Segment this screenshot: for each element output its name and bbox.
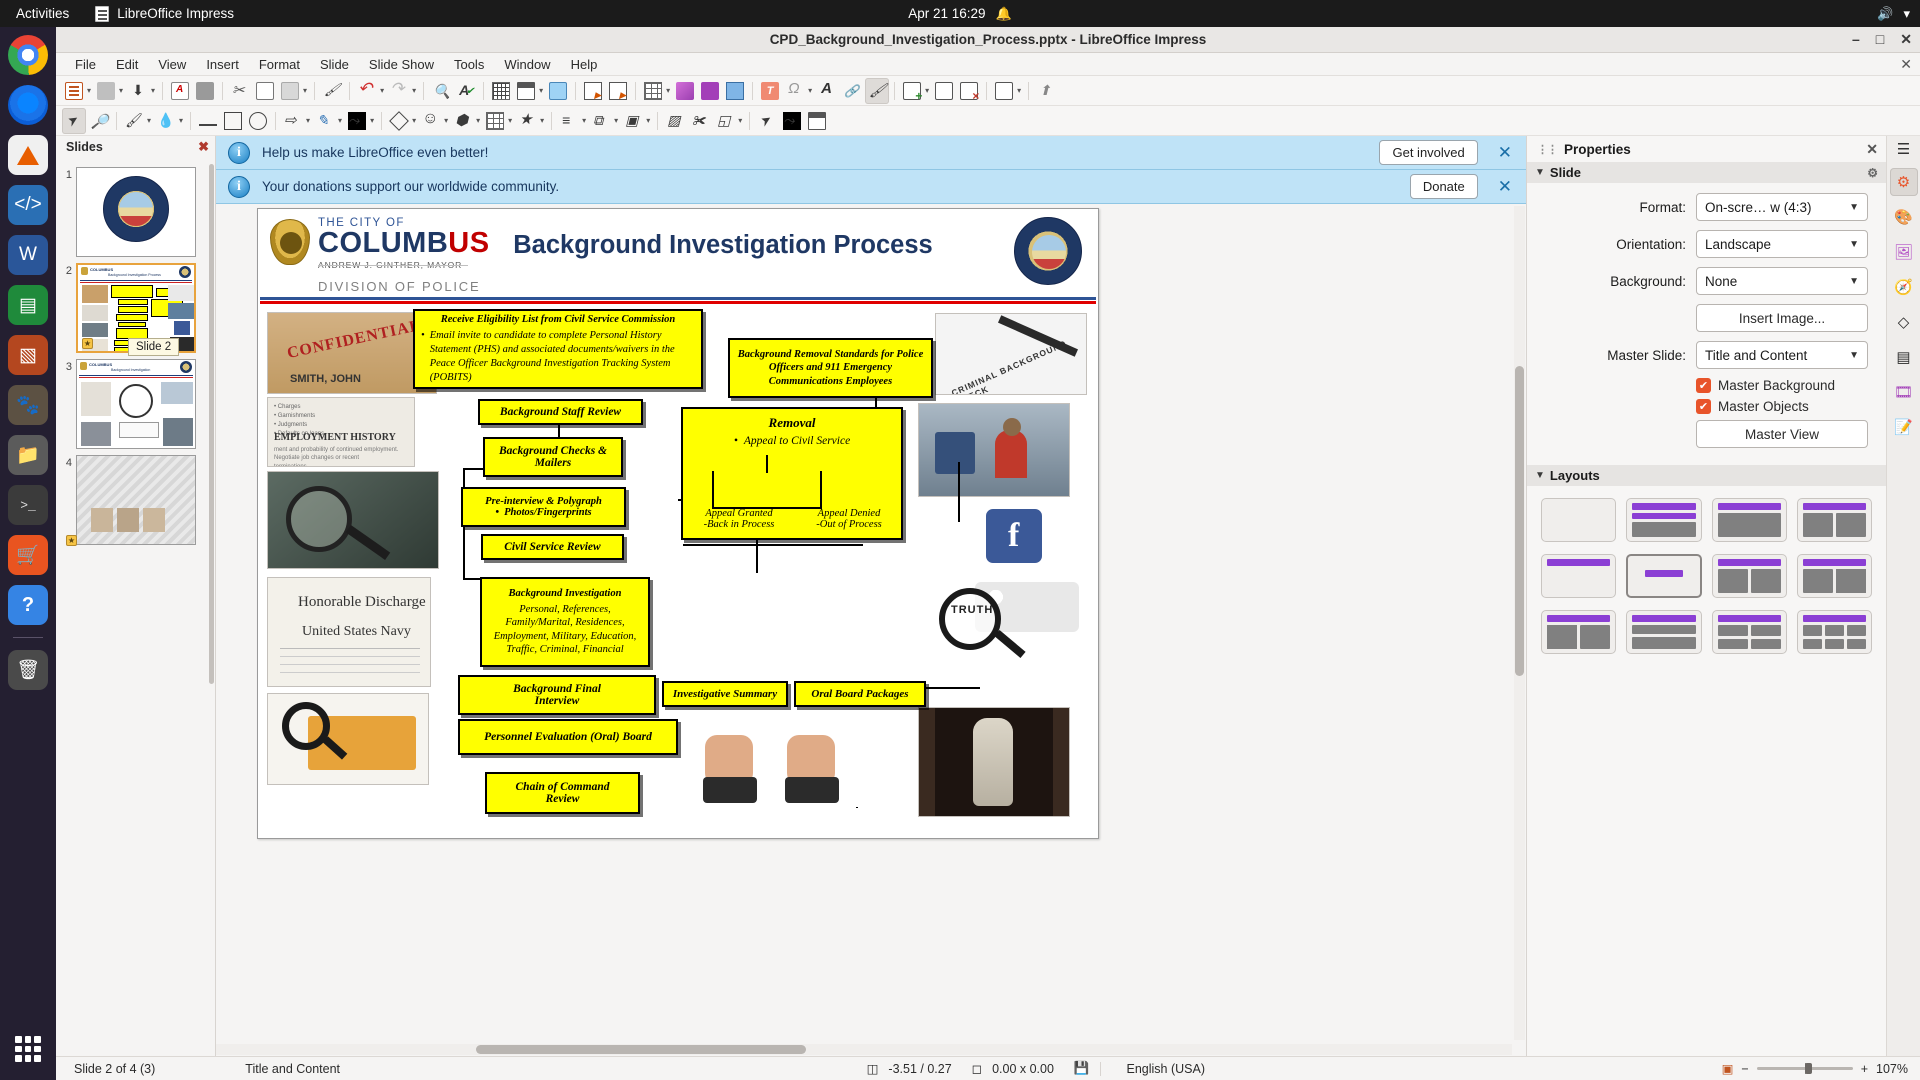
display-grid-button[interactable]	[489, 78, 513, 104]
city-big-label: COLUMBUS	[318, 229, 490, 258]
start-from-first-slide-button[interactable]	[581, 78, 605, 104]
shadow-tool[interactable]	[663, 108, 687, 134]
master-slide-label: Master Slide:	[1607, 348, 1686, 363]
layouts-section-header[interactable]: ▼ Layouts	[1527, 465, 1886, 486]
slides-list[interactable]: 1 2 COLUMBUS Background Investigation Pr…	[56, 158, 215, 1056]
slides-panel-scrollbar[interactable]	[209, 164, 214, 684]
checkbox-checked-icon: ✔	[1696, 378, 1711, 393]
window-maximize-button[interactable]: □	[1876, 31, 1884, 48]
insert-table-button[interactable]	[641, 78, 665, 104]
slide-thumbnail-3[interactable]: 3 COLUMBUS Background Investigation	[56, 356, 215, 452]
fit-slide-icon[interactable]: ▣	[1722, 1061, 1734, 1076]
connectors-tool[interactable]	[345, 108, 369, 134]
zoom-slider[interactable]	[1757, 1067, 1853, 1070]
box-pre-interview-polygraph[interactable]: Pre-interview & Polygraph • Photos/Finge…	[461, 487, 626, 527]
close-slides-panel-icon[interactable]: ✖	[198, 139, 209, 155]
preinterview-bullet-marker: •	[495, 507, 499, 518]
layout-centered-text[interactable]	[1626, 554, 1701, 598]
human-resources-bureau-seal-icon	[1014, 217, 1082, 285]
sidebar-menu-icon[interactable]: ☰	[1897, 140, 1910, 158]
box-removal[interactable]: Removal • Appeal to Civil Service Appeal…	[681, 407, 903, 540]
info-icon: i	[228, 142, 250, 164]
slide-layout-button[interactable]	[992, 78, 1016, 104]
box-background-checks-mailers[interactable]: Background Checks & Mailers	[483, 437, 623, 477]
sidebar-shapes-icon[interactable]: ◇	[1890, 308, 1918, 336]
header-red-rule	[260, 301, 1096, 304]
fill-color-tool[interactable]: 💧	[154, 108, 178, 134]
preinterview-bullet: Photos/Fingerprints	[504, 507, 592, 518]
layout-title-content[interactable]	[1626, 498, 1701, 542]
slide-orientation-value: Landscape	[1705, 237, 1849, 252]
redo-button[interactable]	[387, 78, 411, 104]
distribute-dropdown[interactable]: ▾	[646, 116, 652, 125]
distribute-tool[interactable]	[621, 108, 645, 134]
dock-item-libreoffice-impress[interactable]: ▧	[8, 335, 48, 375]
slide-background-dropdown[interactable]: None ▼	[1696, 267, 1868, 295]
align-objects-tool[interactable]	[557, 108, 581, 134]
zoom-slider-knob[interactable]	[1805, 1063, 1812, 1074]
notification-message-1: Help us make LibreOffice even better!	[262, 145, 1367, 160]
master-slide-button[interactable]	[514, 78, 538, 104]
slide-format-dropdown[interactable]: On-scre… w (4:3) ▼	[1696, 193, 1868, 221]
clock-area[interactable]: Apr 21 16:29 🔔	[908, 6, 1012, 21]
workspace: Slides ✖ 1 2 COLUMB	[56, 136, 1920, 1056]
sidebar-character-styles-icon[interactable]: 🎨	[1890, 203, 1918, 231]
glue-points-tool[interactable]	[780, 108, 804, 134]
flowchart-tool[interactable]	[483, 108, 507, 134]
personnel-eval-text: Personnel Evaluation (Oral) Board	[466, 731, 670, 743]
canvas-horizontal-scrollbar[interactable]	[216, 1044, 1512, 1055]
dock-item-ubuntu-software[interactable]: 🛒	[8, 535, 48, 575]
magnifier-money-image[interactable]	[267, 471, 439, 569]
removal-title: Removal	[689, 415, 895, 431]
filter-tool[interactable]	[713, 108, 737, 134]
active-app-label: LibreOffice Impress	[117, 6, 234, 21]
window-title: CPD_Background_Investigation_Process.ppt…	[770, 32, 1207, 47]
menu-help[interactable]: Help	[562, 55, 607, 74]
menu-window[interactable]: Window	[495, 55, 559, 74]
layout-two-content-title[interactable]	[1712, 554, 1787, 598]
duplicate-slide-button[interactable]	[932, 78, 956, 104]
standard-toolbar: ▾ ▾ ⬇ ▾ ▾ ▾ ▾ ▾ ▾ T	[56, 76, 1920, 106]
crop-image-tool[interactable]	[688, 108, 712, 134]
appeal-denied-line1: Appeal Denied	[799, 508, 899, 519]
insert-media-button[interactable]	[698, 78, 722, 104]
confidential-file-folder-image[interactable]: CONFIDENTIAL SMITH, JOHN	[267, 312, 437, 394]
close-document-button[interactable]: ✕	[1900, 56, 1912, 73]
redo-dropdown[interactable]: ▾	[412, 86, 418, 95]
layout-two-content[interactable]	[1797, 498, 1872, 542]
print-button[interactable]	[193, 78, 217, 104]
dock-item-terminal[interactable]	[8, 485, 48, 525]
menu-file[interactable]: File	[66, 55, 105, 74]
removal-bullet: Appeal to Civil Service	[744, 435, 850, 447]
sidebar-settings-icon[interactable]: ⚙	[1890, 168, 1918, 196]
oral-board-packages-text: Oral Board Packages	[802, 688, 918, 700]
master-view-button[interactable]: Master View	[1696, 420, 1868, 448]
box-civil-service-review[interactable]: Civil Service Review	[481, 534, 624, 560]
slide-background-value: None	[1705, 274, 1849, 289]
slide-thumbnail-2[interactable]: 2 COLUMBUS Background Investigation Proc…	[56, 260, 215, 356]
chevron-down-icon: ▼	[1849, 276, 1859, 287]
clock-label: Apr 21 16:29	[908, 6, 985, 21]
insert-text-box-2-button[interactable]: T	[758, 78, 782, 104]
connector-line	[856, 807, 858, 808]
window-minimize-button[interactable]: –	[1852, 31, 1860, 48]
menu-insert[interactable]: Insert	[197, 55, 248, 74]
dock-item-vs-code[interactable]: </>	[8, 185, 48, 225]
preinterview-title: Pre-interview & Polygraph	[469, 496, 618, 507]
zoom-out-button[interactable]: −	[1741, 1062, 1748, 1076]
slide-section-header[interactable]: ▼ Slide ⚙	[1527, 162, 1886, 183]
status-slide-info: Slide 2 of 4 (3)	[64, 1062, 165, 1076]
skeleton-in-closet-image[interactable]	[918, 707, 1070, 817]
status-zoom-value[interactable]: 107%	[1876, 1062, 1908, 1076]
basic-shapes-tool[interactable]	[387, 108, 411, 134]
slide-format-value: On-scre… w (4:3)	[1705, 200, 1849, 215]
insert-line-tool[interactable]	[196, 108, 220, 134]
civil-service-review-text: Civil Service Review	[489, 541, 616, 553]
truth-magnifier-image[interactable]: TRUTH	[930, 577, 1090, 663]
slide-title: Background Investigation Process	[513, 231, 933, 260]
new-slide-button[interactable]	[900, 78, 924, 104]
block-arrows-tool[interactable]	[451, 108, 475, 134]
checks-mailers-line1: Background Checks &	[491, 445, 615, 457]
align-dropdown[interactable]: ▾	[582, 116, 588, 125]
chevron-down-icon: ▼	[1535, 167, 1545, 178]
layout-two-content-content[interactable]	[1541, 610, 1616, 654]
insert-text-box-button[interactable]	[546, 78, 570, 104]
thumb-canvas-3: COLUMBUS Background Investigation	[76, 359, 196, 449]
toggle-extrusion-tool[interactable]	[805, 108, 829, 134]
final-interview-line1: Background Final	[466, 683, 648, 695]
appeal-denied-line2: -Out of Process	[799, 519, 899, 530]
removal-bullet-marker: •	[734, 435, 738, 447]
investigation-title: Background Investigation	[488, 587, 642, 601]
master-objects-checkbox[interactable]: ✔ Master Objects	[1696, 399, 1868, 414]
notification-bar-1: i Help us make LibreOffice even better! …	[216, 136, 1526, 170]
investigation-body: Personal, References, Family/Marital, Re…	[488, 603, 642, 658]
open-button[interactable]	[94, 78, 118, 104]
file-folder-magnifier-image[interactable]	[267, 693, 429, 785]
start-from-current-slide-button[interactable]	[606, 78, 630, 104]
layouts-grid	[1527, 486, 1886, 666]
slide-thumbnail-4[interactable]: 4 ★	[56, 452, 215, 548]
final-interview-line2: Interview	[466, 695, 648, 707]
horizontal-scrollbar-thumb[interactable]	[476, 1045, 806, 1054]
menu-format[interactable]: Format	[250, 55, 309, 74]
slide-properties-body: Format: On-scre… w (4:3) ▼ Orientation: …	[1527, 183, 1886, 465]
layout-content-two-content[interactable]	[1797, 554, 1872, 598]
slides-panel-header: Slides ✖	[56, 136, 215, 158]
zoom-tool[interactable]	[87, 108, 111, 134]
status-cursor-position: -3.51 / 0.27	[888, 1062, 961, 1076]
layout-four-content[interactable]	[1712, 610, 1787, 654]
dock-item-libreoffice-calc[interactable]: ▤	[8, 285, 48, 325]
dock-item-gimp[interactable]: 🐾	[8, 385, 48, 425]
thumb-canvas-4	[76, 455, 196, 545]
layout-content-over-content[interactable]	[1626, 610, 1701, 654]
menu-edit[interactable]: Edit	[107, 55, 147, 74]
activities-button[interactable]: Activities	[0, 6, 83, 21]
honorable-discharge-certificate-image[interactable]: Honorable Discharge United States Navy	[267, 577, 431, 687]
employment-history-document-image[interactable]: • Charges• Garnishments• Judgments• Defa…	[267, 397, 415, 467]
copy-button[interactable]	[253, 78, 277, 104]
checks-mailers-line2: Mailers	[491, 457, 615, 469]
zoom-in-button[interactable]: +	[1861, 1062, 1868, 1076]
chevron-down-icon: ▼	[1849, 239, 1859, 250]
symbol-shapes-tool[interactable]	[419, 108, 443, 134]
position-icon: ◫	[857, 1061, 889, 1076]
dock-item-trash[interactable]: 🗑	[8, 650, 48, 690]
box-background-investigation[interactable]: Background Investigation Personal, Refer…	[480, 577, 650, 667]
box-chain-of-command-review[interactable]: Chain of Command Review	[485, 772, 640, 814]
layout-title-only[interactable]	[1541, 554, 1616, 598]
slide-background-row: Background: None ▼	[1535, 267, 1868, 295]
editing-area: i Help us make LibreOffice even better! …	[216, 136, 1526, 1056]
curves-and-polygons-tool[interactable]	[313, 108, 337, 134]
thumb-canvas-1	[76, 167, 196, 257]
chain-of-command-line1: Chain of Command	[493, 781, 632, 793]
drawing-toolbar: 🖌 ▾ 💧 ▾ ▾ ▾ ▾ ▾ ▾ ▾ ▾ ▾ ▾ ▾ ▾	[56, 106, 1920, 136]
insert-table-dropdown[interactable]: ▾	[666, 86, 672, 95]
size-icon: ◻	[962, 1061, 992, 1076]
box-background-removal-standards[interactable]: Background Removal Standards for Police …	[728, 338, 933, 398]
eligibility-bullet-marker: •	[421, 329, 425, 386]
new-document-dropdown[interactable]: ▾	[87, 86, 93, 95]
arrange-tool[interactable]	[589, 108, 613, 134]
dock-item-files[interactable]: 📁	[8, 435, 48, 475]
new-document-button[interactable]	[62, 78, 86, 104]
slide-canvas-area[interactable]: THE CITY OF COLUMBUS ANDREW J. GINTHER, …	[216, 204, 1526, 1056]
rectangle-tool[interactable]	[221, 108, 245, 134]
master-slide-dropdown[interactable]: Title and Content ▼	[1696, 341, 1868, 369]
slide-canvas[interactable]: THE CITY OF COLUMBUS ANDREW J. GINTHER, …	[257, 208, 1099, 839]
insert-special-character-button[interactable]	[783, 78, 807, 104]
master-background-checkbox[interactable]: ✔ Master Background	[1696, 378, 1868, 393]
line-color-tool[interactable]: 🖌	[122, 108, 146, 134]
active-app-menu[interactable]: LibreOffice Impress	[83, 6, 246, 22]
save-dropdown[interactable]: ▾	[151, 86, 157, 95]
points-tool[interactable]	[755, 108, 779, 134]
close-sidebar-icon[interactable]: ✕	[1866, 141, 1878, 158]
slide-number-3: 3	[60, 359, 72, 373]
window-titlebar: CPD_Background_Investigation_Process.ppt…	[56, 27, 1920, 53]
chain-of-command-line2: Review	[493, 793, 632, 805]
master-background-label: Master Background	[1718, 378, 1835, 393]
new-slide-dropdown[interactable]: ▾	[925, 86, 931, 95]
insert-image-button[interactable]: Insert Image...	[1696, 304, 1868, 332]
vertical-scrollbar-thumb[interactable]	[1515, 366, 1524, 676]
window-close-button[interactable]: ✕	[1900, 31, 1912, 48]
dock-separator	[13, 637, 43, 638]
undo-dropdown[interactable]: ▾	[380, 86, 386, 95]
eligibility-bullet: Email invite to candidate to complete Pe…	[430, 329, 695, 386]
basic-shapes-dropdown[interactable]: ▾	[412, 116, 418, 125]
slide-format-row: Format: On-scre… w (4:3) ▼	[1535, 193, 1868, 221]
insert-hyperlink-button[interactable]	[840, 78, 864, 104]
slide-header: THE CITY OF COLUMBUS ANDREW J. GINTHER, …	[258, 209, 1098, 297]
menu-tools[interactable]: Tools	[445, 55, 493, 74]
bell-icon: 🔔	[996, 7, 1012, 20]
status-master-slide: Title and Content	[165, 1062, 350, 1076]
block-arrows-dropdown[interactable]: ▾	[476, 116, 482, 125]
menu-slide[interactable]: Slide	[311, 55, 358, 74]
layouts-section-label: Layouts	[1550, 468, 1600, 483]
connector-line	[683, 544, 863, 546]
thumbs-up-thumbs-down-image[interactable]	[690, 714, 858, 814]
ellipse-tool[interactable]	[246, 108, 270, 134]
slides-panel: Slides ✖ 1 2 COLUMB	[56, 136, 216, 1056]
sidebar-grip-icon[interactable]: ⋮⋮	[1537, 143, 1557, 156]
master-slide-row: Master Slide: Title and Content ▼	[1535, 341, 1868, 369]
volume-icon: 🔊	[1877, 7, 1893, 20]
undo-button[interactable]	[355, 78, 379, 104]
eligibility-title: Receive Eligibility List from Civil Serv…	[421, 313, 695, 327]
dock-item-vlc[interactable]	[8, 135, 48, 175]
curves-dropdown[interactable]: ▾	[338, 116, 344, 125]
insert-fontwork-button[interactable]	[815, 78, 839, 104]
open-dropdown[interactable]: ▾	[119, 86, 125, 95]
line-color-dropdown[interactable]: ▾	[147, 116, 153, 125]
spelling-button[interactable]	[454, 78, 478, 104]
fill-color-dropdown[interactable]: ▾	[179, 116, 185, 125]
insert-image-row: Insert Image...	[1535, 304, 1868, 332]
ubuntu-dock: </> W ▤ ▧ 🐾 📁 🛒 🗑	[0, 27, 56, 1080]
export-button[interactable]	[1034, 78, 1058, 104]
save-button[interactable]: ⬇	[126, 78, 150, 104]
menu-slide-show[interactable]: Slide Show	[360, 55, 443, 74]
paste-dropdown[interactable]: ▾	[303, 86, 309, 95]
sidebar-slide-transition-icon[interactable]: ▤	[1890, 343, 1918, 371]
gnome-top-bar: Activities LibreOffice Impress Apr 21 16…	[0, 0, 1920, 27]
menu-bar: File Edit View Insert Format Slide Slide…	[56, 53, 1920, 76]
master-objects-label: Master Objects	[1718, 399, 1809, 414]
division-label: DIVISION OF POLICE	[318, 279, 490, 294]
dock-item-libreoffice-writer[interactable]: W	[8, 235, 48, 275]
layout-title-only-content[interactable]	[1712, 498, 1787, 542]
sidebar-animation-icon[interactable]: 🎞	[1890, 378, 1918, 406]
chevron-down-icon: ▼	[1849, 202, 1859, 213]
export-pdf-button[interactable]	[168, 78, 192, 104]
show-applications-button[interactable]	[15, 1036, 41, 1062]
info-icon-2: i	[228, 176, 250, 198]
connector-line	[958, 462, 960, 522]
box-background-staff-review[interactable]: Background Staff Review	[478, 399, 643, 425]
status-language: English (USA)	[1101, 1062, 1216, 1076]
canvas-vertical-scrollbar[interactable]	[1514, 206, 1525, 1040]
find-replace-button[interactable]	[429, 78, 453, 104]
appeal-granted-line1: Appeal Granted	[689, 508, 789, 519]
master-view-row: Master View	[1535, 420, 1868, 448]
appeal-granted-line2: -Back in Process	[689, 519, 789, 530]
zoom-controls[interactable]: ▣ − + 107%	[1722, 1061, 1912, 1076]
gear-icon[interactable]: ⚙	[1867, 166, 1878, 180]
box-receive-eligibility-list[interactable]: Receive Eligibility List from Civil Serv…	[413, 309, 703, 389]
sidebar-navigator-icon[interactable]: 🧭	[1890, 273, 1918, 301]
status-object-size: 0.00 x 0.00	[992, 1062, 1064, 1076]
slide-number-2: 2	[60, 263, 72, 277]
sidebar-tab-rail: ☰ ⚙ 🎨 🖼 🧭 ◇ ▤ 🎞 📝	[1886, 136, 1920, 1056]
dock-item-firefox[interactable]	[8, 85, 48, 125]
connectors-dropdown[interactable]: ▾	[370, 116, 376, 125]
polygraph-interview-image[interactable]	[918, 403, 1070, 497]
slide-number-1: 1	[60, 167, 72, 181]
symbol-shapes-dropdown[interactable]: ▾	[444, 116, 450, 125]
get-involved-button[interactable]: Get involved	[1379, 140, 1477, 165]
dock-item-google-chrome[interactable]	[8, 35, 48, 75]
impress-window: CPD_Background_Investigation_Process.ppt…	[56, 27, 1920, 1080]
chevron-down-icon: ▼	[1535, 470, 1545, 481]
flowchart-dropdown[interactable]: ▾	[508, 116, 514, 125]
chevron-down-icon: ▼	[1849, 350, 1859, 361]
box-background-final-interview[interactable]: Background Final Interview	[458, 675, 656, 715]
paste-button[interactable]	[278, 78, 302, 104]
insert-image-button[interactable]	[673, 78, 697, 104]
investigative-summary-text: Investigative Summary	[670, 688, 780, 700]
select-tool[interactable]	[62, 108, 86, 134]
stars-and-banners-tool[interactable]	[515, 108, 539, 134]
layout-six-content[interactable]	[1797, 610, 1872, 654]
dock-item-help[interactable]	[8, 585, 48, 625]
master-slide-dropdown[interactable]: ▾	[539, 86, 545, 95]
slide-layout-dropdown[interactable]: ▾	[1017, 86, 1023, 95]
slide-orientation-label: Orientation:	[1616, 237, 1686, 252]
insert-chart-button[interactable]	[723, 78, 747, 104]
master-slide-value: Title and Content	[1705, 348, 1849, 363]
special-character-dropdown[interactable]: ▾	[808, 86, 814, 95]
slide-number-4: 4	[60, 455, 72, 469]
close-notification-2-icon[interactable]: ✕	[1490, 177, 1520, 197]
close-notification-1-icon[interactable]: ✕	[1490, 143, 1520, 163]
city-wordmark: THE CITY OF COLUMBUS ANDREW J. GINTHER, …	[318, 217, 490, 294]
layout-blank[interactable]	[1541, 498, 1616, 542]
properties-sidebar: ⋮⋮ Properties ✕ ▼ Slide ⚙ Format: On-scr	[1526, 136, 1920, 1056]
notification-message-2: Your donations support our worldwide com…	[262, 179, 1398, 194]
clone-formatting-button[interactable]	[320, 78, 344, 104]
slide-tooltip: Slide 2	[128, 338, 179, 356]
sidebar-title-bar: ⋮⋮ Properties ✕	[1527, 136, 1886, 162]
slides-panel-title: Slides	[66, 140, 103, 154]
delete-slide-button[interactable]	[957, 78, 981, 104]
stars-dropdown[interactable]: ▾	[540, 116, 546, 125]
box-investigative-summary[interactable]: Investigative Summary	[662, 681, 788, 707]
menu-view[interactable]: View	[149, 55, 195, 74]
removal-standards-text: Background Removal Standards for Police …	[736, 348, 925, 389]
lines-and-arrows-dropdown[interactable]: ▾	[306, 116, 312, 125]
show-draw-functions-button[interactable]	[865, 78, 889, 104]
system-tray[interactable]: 🔊 ▾	[1877, 7, 1910, 20]
box-personnel-evaluation-board[interactable]: Personnel Evaluation (Oral) Board	[458, 719, 678, 755]
slide-transition-badge-4: ★	[66, 535, 77, 546]
lines-and-arrows-tool[interactable]	[281, 108, 305, 134]
save-status-icon[interactable]: 💾	[1064, 1061, 1100, 1076]
slide-orientation-row: Orientation: Landscape ▼	[1535, 230, 1868, 258]
sidebar-master-slides-icon[interactable]: 📝	[1890, 413, 1918, 441]
filter-dropdown[interactable]: ▾	[738, 116, 744, 125]
slide-section-label: Slide	[1550, 165, 1581, 180]
facebook-logo-image[interactable]: f	[984, 507, 1044, 565]
box-oral-board-packages[interactable]: Oral Board Packages	[794, 681, 926, 707]
status-bar: Slide 2 of 4 (3) Title and Content ◫ -3.…	[56, 1056, 1920, 1080]
arrange-dropdown[interactable]: ▾	[614, 116, 620, 125]
slide-thumbnail-1[interactable]: 1	[56, 164, 215, 260]
donate-button[interactable]: Donate	[1410, 174, 1478, 199]
cut-button[interactable]	[228, 78, 252, 104]
criminal-background-check-pencil-image[interactable]: CRIMINAL BACKGROUND CHECK	[935, 313, 1087, 395]
sidebar-gallery-icon[interactable]: 🖼	[1890, 238, 1918, 266]
slide-orientation-dropdown[interactable]: Landscape ▼	[1696, 230, 1868, 258]
